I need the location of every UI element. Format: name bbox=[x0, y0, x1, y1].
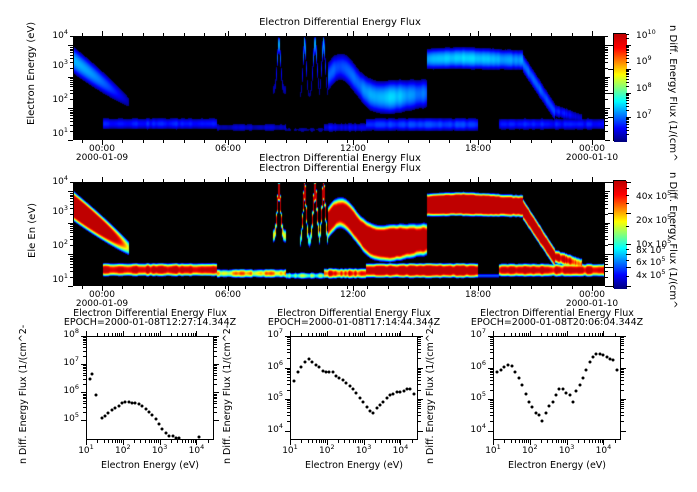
y-minor-tick bbox=[214, 401, 217, 402]
cbar-minor-tick bbox=[626, 119, 629, 120]
x-minor-tick bbox=[188, 333, 189, 336]
y-minor-tick bbox=[70, 264, 73, 265]
data-point bbox=[161, 427, 164, 430]
y-minor-tick bbox=[605, 198, 608, 199]
x-minor-tick bbox=[367, 33, 368, 36]
spectrum-1-xtick-3: 103 bbox=[152, 446, 168, 456]
y-minor-tick bbox=[418, 402, 421, 403]
x-minor-tick bbox=[367, 286, 368, 289]
x-minor-tick bbox=[515, 440, 516, 443]
cbar-major-tick bbox=[626, 286, 631, 287]
x-minor-tick bbox=[82, 33, 83, 36]
y-minor-tick bbox=[605, 256, 608, 257]
x-minor-tick bbox=[395, 333, 396, 336]
y-minor-tick bbox=[605, 214, 608, 215]
y-minor-tick bbox=[605, 50, 608, 51]
spectrum-2-xtick-1: 101 bbox=[282, 446, 298, 456]
y-minor-tick bbox=[605, 230, 608, 231]
x-minor-tick bbox=[193, 333, 194, 336]
x-minor-tick bbox=[286, 286, 287, 289]
y-minor-tick bbox=[214, 367, 217, 368]
top-spectrogram-plot bbox=[73, 36, 605, 140]
y-minor-tick bbox=[70, 86, 73, 87]
x-minor-tick bbox=[515, 333, 516, 336]
spectrum-1-ytick-5: 105 bbox=[63, 414, 79, 424]
cbar-minor-tick bbox=[626, 127, 629, 128]
x-minor-tick bbox=[531, 33, 532, 36]
x-minor-tick bbox=[122, 286, 123, 289]
y-minor-tick bbox=[605, 58, 608, 59]
x-minor-tick bbox=[171, 440, 172, 443]
data-point bbox=[495, 371, 498, 374]
x-minor-tick bbox=[429, 33, 430, 36]
x-minor-tick bbox=[381, 440, 382, 443]
x-major-tick bbox=[592, 177, 593, 182]
x-major-tick bbox=[102, 177, 103, 182]
spectrum-2-ytick-5: 105 bbox=[267, 393, 283, 403]
x-minor-tick bbox=[595, 440, 596, 443]
data-point bbox=[90, 372, 93, 375]
data-point bbox=[144, 407, 147, 410]
y-minor-tick bbox=[621, 380, 624, 381]
top-date-start: 2000-01-09 bbox=[76, 153, 128, 163]
x-minor-tick bbox=[449, 286, 450, 289]
x-minor-tick bbox=[82, 286, 83, 289]
x-minor-tick bbox=[140, 333, 141, 336]
x-major-tick bbox=[530, 331, 531, 336]
x-minor-tick bbox=[556, 333, 557, 336]
y-major-tick bbox=[488, 431, 493, 432]
y-minor-tick bbox=[83, 344, 86, 345]
data-point bbox=[318, 366, 321, 369]
mid-cbar-tick-40: 40x 105 bbox=[636, 192, 671, 202]
y-minor-tick bbox=[70, 68, 73, 69]
spectrum-plot-3 bbox=[493, 336, 621, 440]
y-major-tick bbox=[214, 420, 219, 421]
x-minor-tick bbox=[323, 333, 324, 336]
x-minor-tick bbox=[615, 440, 616, 443]
top-xtick-1: 06:00 bbox=[215, 144, 241, 154]
x-minor-tick bbox=[600, 333, 601, 336]
y-minor-tick bbox=[287, 369, 290, 370]
y-minor-tick bbox=[214, 368, 217, 369]
x-minor-tick bbox=[429, 179, 430, 182]
cbar-minor-tick bbox=[626, 55, 629, 56]
y-minor-tick bbox=[287, 380, 290, 381]
data-point bbox=[114, 406, 117, 409]
cbar-minor-tick bbox=[626, 73, 629, 74]
cbar-major-tick bbox=[626, 213, 631, 214]
cbar-minor-tick bbox=[626, 74, 629, 75]
x-major-tick bbox=[228, 177, 229, 182]
mid-spectrogram-plot bbox=[73, 182, 605, 286]
cbar-major-tick bbox=[608, 93, 613, 94]
y-minor-tick bbox=[605, 99, 608, 100]
spectrum-3-ytick-6: 106 bbox=[470, 362, 486, 372]
x-minor-tick bbox=[119, 440, 120, 443]
x-minor-tick bbox=[321, 333, 322, 336]
x-minor-tick bbox=[140, 440, 141, 443]
x-minor-tick bbox=[347, 140, 348, 143]
x-minor-tick bbox=[82, 140, 83, 143]
cbar-major-tick bbox=[626, 254, 631, 255]
top-cbar-tick-10: 1010 bbox=[636, 31, 656, 41]
cbar-major-tick bbox=[608, 45, 613, 46]
y-minor-tick bbox=[621, 415, 624, 416]
y-minor-tick bbox=[70, 224, 73, 225]
data-point bbox=[355, 391, 358, 394]
y-minor-tick bbox=[490, 415, 493, 416]
top-cbar-tick-7: 107 bbox=[636, 111, 652, 121]
x-minor-tick bbox=[177, 333, 178, 336]
y-minor-tick bbox=[287, 345, 290, 346]
x-major-tick bbox=[567, 331, 568, 336]
y-major-tick bbox=[68, 191, 73, 192]
cbar-minor-tick bbox=[626, 97, 629, 98]
x-major-tick bbox=[364, 440, 365, 445]
spectrum-3-ytick-7: 107 bbox=[470, 330, 486, 340]
spectrum-1-xtick-4: 104 bbox=[189, 446, 205, 456]
data-point bbox=[154, 418, 157, 421]
x-minor-tick bbox=[177, 440, 178, 443]
x-major-tick bbox=[493, 440, 494, 445]
x-minor-tick bbox=[490, 286, 491, 289]
y-minor-tick bbox=[214, 407, 217, 408]
x-major-tick bbox=[86, 440, 87, 445]
cbar-major-tick bbox=[608, 213, 613, 214]
y-minor-tick bbox=[83, 395, 86, 396]
x-minor-tick bbox=[301, 440, 302, 443]
y-minor-tick bbox=[621, 408, 624, 409]
y-minor-tick bbox=[418, 341, 421, 342]
x-minor-tick bbox=[122, 179, 123, 182]
x-major-tick bbox=[290, 440, 291, 445]
y-major-tick bbox=[214, 392, 219, 393]
cbar-minor-tick bbox=[626, 46, 629, 47]
x-major-tick bbox=[478, 177, 479, 182]
y-minor-tick bbox=[287, 406, 290, 407]
x-minor-tick bbox=[185, 333, 186, 336]
data-point bbox=[365, 406, 368, 409]
y-major-tick bbox=[81, 364, 86, 365]
x-minor-tick bbox=[578, 333, 579, 336]
x-major-tick bbox=[102, 31, 103, 36]
mid-xtick-3: 18:00 bbox=[465, 290, 491, 300]
y-minor-tick bbox=[418, 380, 421, 381]
y-minor-tick bbox=[490, 369, 493, 370]
y-minor-tick bbox=[605, 224, 608, 225]
y-minor-tick bbox=[70, 182, 73, 183]
x-minor-tick bbox=[526, 333, 527, 336]
y-minor-tick bbox=[287, 372, 290, 373]
data-point bbox=[503, 366, 506, 369]
y-minor-tick bbox=[490, 400, 493, 401]
y-minor-tick bbox=[70, 55, 73, 56]
y-minor-tick bbox=[70, 110, 73, 111]
x-minor-tick bbox=[204, 140, 205, 143]
x-minor-tick bbox=[306, 140, 307, 143]
x-minor-tick bbox=[375, 440, 376, 443]
data-point bbox=[300, 366, 303, 369]
y-minor-tick bbox=[70, 236, 73, 237]
y-minor-tick bbox=[83, 375, 86, 376]
x-minor-tick bbox=[316, 440, 317, 443]
x-major-tick bbox=[603, 331, 604, 336]
x-major-tick bbox=[400, 440, 401, 445]
y-minor-tick bbox=[490, 408, 493, 409]
spectrum-3-xlabel: Electron Energy (eV) bbox=[508, 460, 606, 471]
data-point bbox=[412, 392, 415, 395]
data-point bbox=[331, 371, 334, 374]
y-major-tick bbox=[68, 45, 73, 46]
y-minor-tick bbox=[605, 232, 608, 233]
y-minor-tick bbox=[490, 371, 493, 372]
y-minor-tick bbox=[70, 245, 73, 246]
y-minor-tick bbox=[70, 239, 73, 240]
x-minor-tick bbox=[386, 333, 387, 336]
cbar-minor-tick bbox=[626, 124, 629, 125]
x-minor-tick bbox=[490, 179, 491, 182]
x-minor-tick bbox=[563, 333, 564, 336]
mid-xtick-1: 06:00 bbox=[215, 290, 241, 300]
y-major-tick bbox=[81, 392, 86, 393]
x-minor-tick bbox=[122, 33, 123, 36]
x-minor-tick bbox=[143, 286, 144, 289]
x-minor-tick bbox=[541, 440, 542, 443]
x-minor-tick bbox=[104, 333, 105, 336]
y-minor-tick bbox=[621, 402, 624, 403]
data-point bbox=[517, 377, 520, 380]
y-minor-tick bbox=[70, 62, 73, 63]
data-point bbox=[147, 410, 150, 413]
spectrum-2-xtick-3: 103 bbox=[356, 446, 372, 456]
data-point bbox=[524, 392, 527, 395]
data-point bbox=[307, 358, 310, 361]
cbar-minor-tick bbox=[626, 122, 629, 123]
y-minor-tick bbox=[605, 131, 608, 132]
y-minor-tick bbox=[70, 214, 73, 215]
y-minor-tick bbox=[214, 395, 217, 396]
data-point bbox=[100, 417, 103, 420]
y-minor-tick bbox=[418, 404, 421, 405]
y-minor-tick bbox=[605, 236, 608, 237]
x-minor-tick bbox=[163, 33, 164, 36]
x-minor-tick bbox=[349, 440, 350, 443]
y-minor-tick bbox=[287, 349, 290, 350]
x-minor-tick bbox=[319, 333, 320, 336]
x-minor-tick bbox=[151, 333, 152, 336]
x-minor-tick bbox=[115, 440, 116, 443]
x-minor-tick bbox=[245, 286, 246, 289]
x-minor-tick bbox=[600, 440, 601, 443]
data-point bbox=[158, 423, 161, 426]
y-minor-tick bbox=[214, 375, 217, 376]
x-minor-tick bbox=[184, 179, 185, 182]
y-minor-tick bbox=[605, 110, 608, 111]
x-minor-tick bbox=[552, 333, 553, 336]
x-minor-tick bbox=[470, 140, 471, 143]
spectrum-epoch-3: EPOCH=2000-01-08T20:06:04.344Z bbox=[471, 317, 643, 328]
y-minor-tick bbox=[70, 131, 73, 132]
y-minor-tick bbox=[490, 345, 493, 346]
y-minor-tick bbox=[214, 340, 217, 341]
cbar-minor-tick bbox=[626, 62, 629, 63]
x-minor-tick bbox=[511, 440, 512, 443]
x-minor-tick bbox=[408, 179, 409, 182]
x-minor-tick bbox=[584, 333, 585, 336]
x-minor-tick bbox=[470, 286, 471, 289]
x-minor-tick bbox=[184, 140, 185, 143]
x-minor-tick bbox=[589, 440, 590, 443]
spectrum-1-xlabel: Electron Energy (eV) bbox=[101, 460, 199, 471]
y-minor-tick bbox=[490, 349, 493, 350]
y-minor-tick bbox=[605, 195, 608, 196]
data-point bbox=[296, 370, 299, 373]
y-minor-tick bbox=[605, 47, 608, 48]
top-cbar-tick-9: 109 bbox=[636, 57, 652, 67]
x-minor-tick bbox=[347, 33, 348, 36]
x-minor-tick bbox=[122, 140, 123, 143]
y-minor-tick bbox=[605, 36, 608, 37]
x-major-tick bbox=[123, 440, 124, 445]
y-minor-tick bbox=[287, 408, 290, 409]
y-major-tick bbox=[621, 368, 626, 369]
data-point bbox=[531, 406, 534, 409]
data-point bbox=[551, 400, 554, 403]
y-minor-tick bbox=[83, 398, 86, 399]
spectrum-1-xtick-2: 102 bbox=[115, 446, 131, 456]
x-minor-tick bbox=[367, 179, 368, 182]
y-minor-tick bbox=[490, 352, 493, 353]
x-minor-tick bbox=[388, 33, 389, 36]
y-minor-tick bbox=[70, 90, 73, 91]
cbar-minor-tick bbox=[626, 86, 629, 87]
x-minor-tick bbox=[316, 333, 317, 336]
y-minor-tick bbox=[70, 49, 73, 50]
y-minor-tick bbox=[605, 277, 608, 278]
y-minor-tick bbox=[621, 371, 624, 372]
y-major-tick bbox=[605, 191, 610, 192]
x-minor-tick bbox=[145, 440, 146, 443]
x-minor-tick bbox=[355, 333, 356, 336]
y-major-tick bbox=[285, 399, 290, 400]
spectrum-2-ytick-7: 107 bbox=[267, 330, 283, 340]
y-minor-tick bbox=[70, 121, 73, 122]
x-minor-tick bbox=[156, 440, 157, 443]
y-minor-tick bbox=[621, 343, 624, 344]
x-minor-tick bbox=[145, 333, 146, 336]
y-minor-tick bbox=[70, 112, 73, 113]
data-point bbox=[385, 396, 388, 399]
x-minor-tick bbox=[143, 179, 144, 182]
data-point bbox=[581, 377, 584, 380]
x-minor-tick bbox=[347, 179, 348, 182]
data-point bbox=[311, 361, 314, 364]
data-point bbox=[198, 435, 201, 438]
y-major-tick bbox=[81, 336, 86, 337]
y-minor-tick bbox=[70, 259, 73, 260]
cbar-major-tick bbox=[608, 182, 613, 183]
y-minor-tick bbox=[621, 404, 624, 405]
x-minor-tick bbox=[188, 440, 189, 443]
x-minor-tick bbox=[265, 140, 266, 143]
y-minor-tick bbox=[605, 80, 608, 81]
x-minor-tick bbox=[171, 333, 172, 336]
y-minor-tick bbox=[605, 113, 608, 114]
cbar-minor-tick bbox=[626, 71, 629, 72]
y-minor-tick bbox=[605, 228, 608, 229]
x-minor-tick bbox=[265, 179, 266, 182]
y-minor-tick bbox=[418, 400, 421, 401]
cbar-minor-tick bbox=[626, 226, 629, 227]
y-minor-tick bbox=[70, 78, 73, 79]
y-minor-tick bbox=[214, 342, 217, 343]
y-minor-tick bbox=[70, 118, 73, 119]
y-minor-tick bbox=[605, 118, 608, 119]
y-minor-tick bbox=[621, 358, 624, 359]
x-minor-tick bbox=[163, 140, 164, 143]
x-minor-tick bbox=[286, 140, 287, 143]
y-minor-tick bbox=[83, 337, 86, 338]
x-major-tick bbox=[400, 331, 401, 336]
x-minor-tick bbox=[531, 286, 532, 289]
data-point bbox=[592, 355, 595, 358]
x-minor-tick bbox=[134, 333, 135, 336]
cbar-minor-tick bbox=[626, 130, 629, 131]
cbar-major-tick bbox=[626, 244, 631, 245]
spectrum-plot-2 bbox=[290, 336, 418, 440]
x-minor-tick bbox=[598, 333, 599, 336]
y-minor-tick bbox=[418, 352, 421, 353]
y-minor-tick bbox=[418, 421, 421, 422]
y-minor-tick bbox=[621, 337, 624, 338]
mid-ytick-4: 104 bbox=[52, 177, 68, 187]
y-minor-tick bbox=[83, 373, 86, 374]
x-minor-tick bbox=[182, 440, 183, 443]
y-minor-tick bbox=[70, 50, 73, 51]
y-minor-tick bbox=[83, 347, 86, 348]
x-minor-tick bbox=[510, 179, 511, 182]
x-minor-tick bbox=[490, 33, 491, 36]
x-minor-tick bbox=[286, 33, 287, 36]
cbar-minor-tick bbox=[626, 58, 629, 59]
mid-cbar-tick-6: 6x 105 bbox=[636, 258, 666, 268]
x-minor-tick bbox=[408, 286, 409, 289]
y-minor-tick bbox=[418, 343, 421, 344]
x-minor-tick bbox=[115, 333, 116, 336]
data-point bbox=[588, 361, 591, 364]
x-minor-tick bbox=[163, 179, 164, 182]
cbar-minor-tick bbox=[626, 195, 629, 196]
y-minor-tick bbox=[70, 271, 73, 272]
y-minor-tick bbox=[70, 193, 73, 194]
y-major-tick bbox=[488, 399, 493, 400]
x-major-tick bbox=[603, 440, 604, 445]
data-point bbox=[499, 368, 502, 371]
x-minor-tick bbox=[595, 333, 596, 336]
cbar-minor-tick bbox=[626, 134, 629, 135]
x-minor-tick bbox=[245, 179, 246, 182]
y-minor-tick bbox=[70, 84, 73, 85]
top-ytick-1: 101 bbox=[52, 129, 68, 139]
y-minor-tick bbox=[83, 403, 86, 404]
x-minor-tick bbox=[519, 440, 520, 443]
x-minor-tick bbox=[531, 140, 532, 143]
y-minor-tick bbox=[70, 196, 73, 197]
x-minor-tick bbox=[397, 440, 398, 443]
cbar-minor-tick bbox=[626, 52, 629, 53]
mid-ytick-1: 101 bbox=[52, 275, 68, 285]
